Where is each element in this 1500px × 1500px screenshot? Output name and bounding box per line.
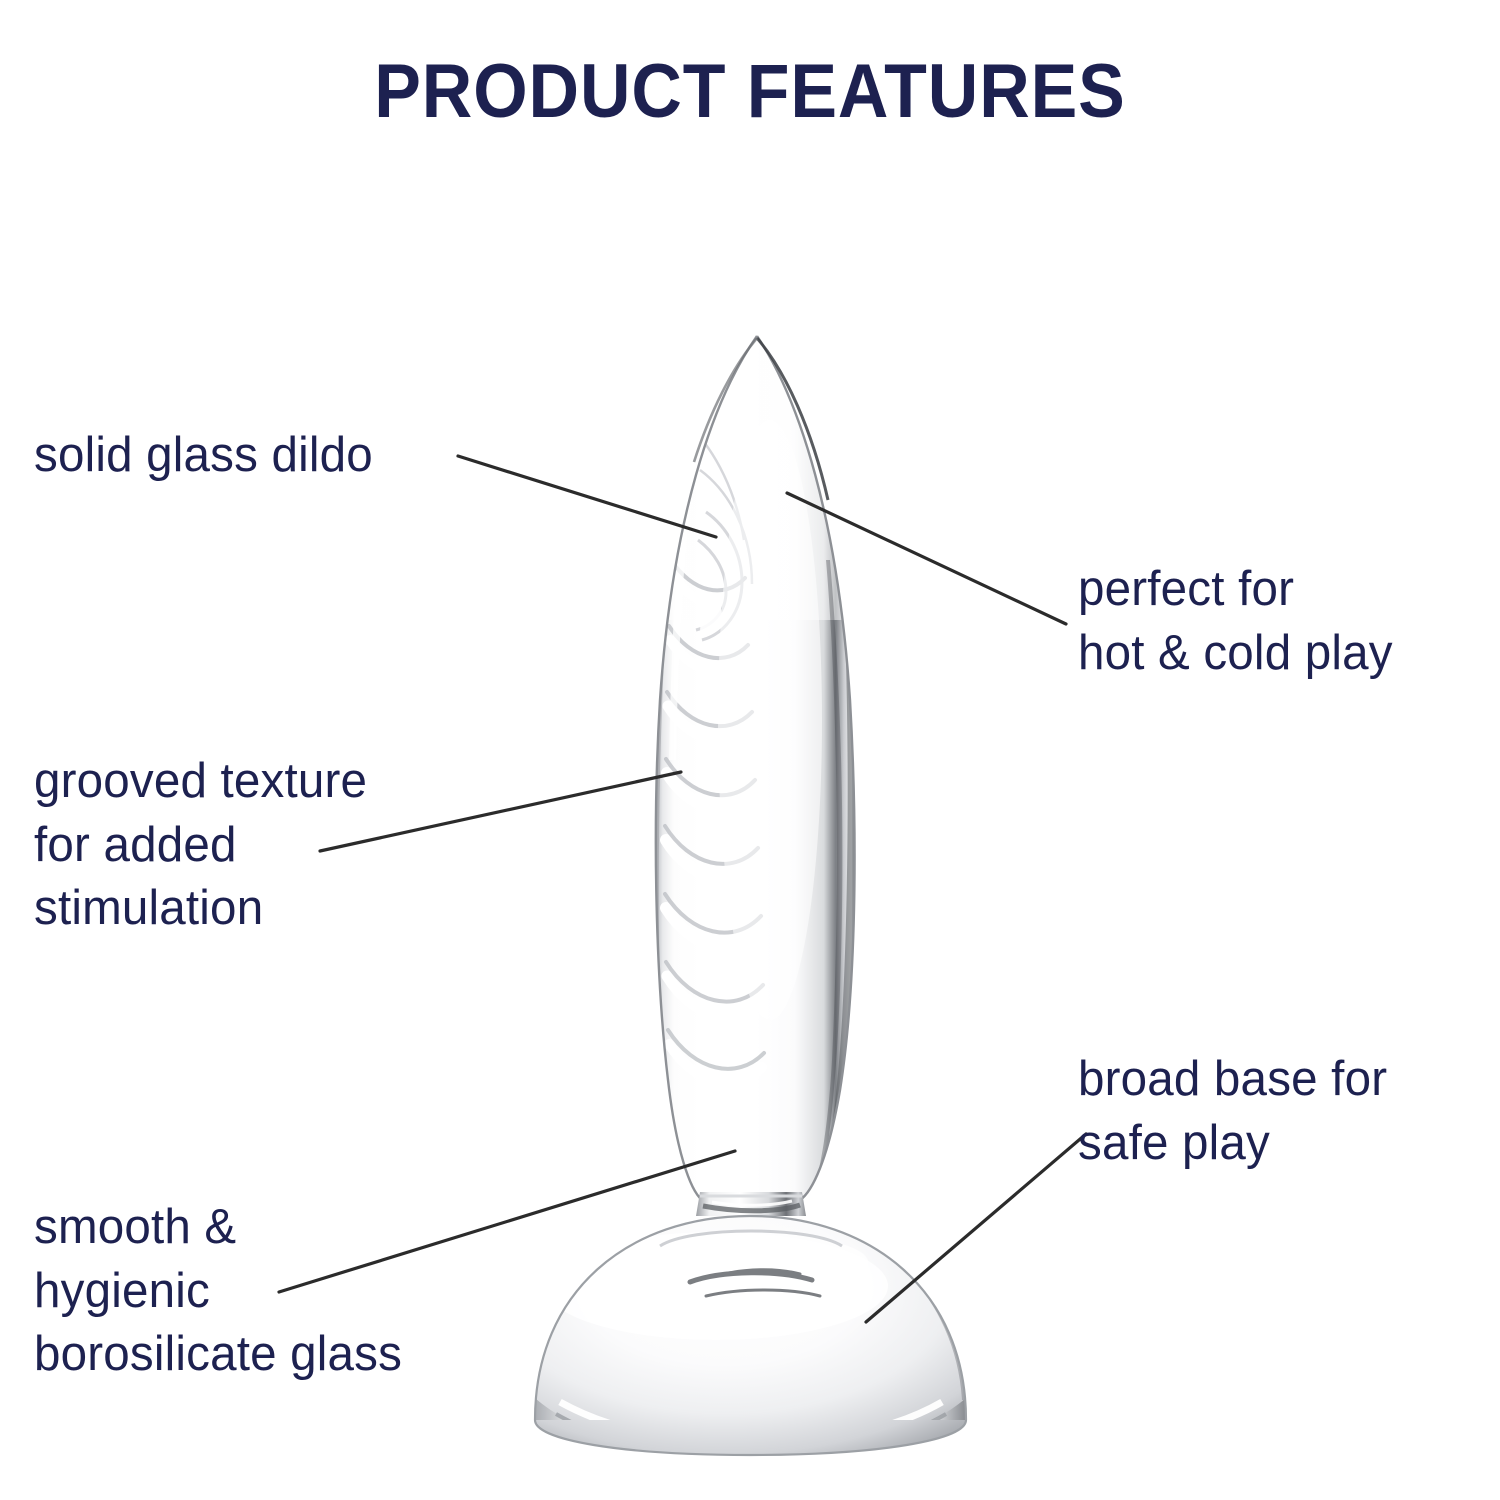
callout-label-smooth-hygienic: smooth & hygienic borosilicate glass <box>34 1196 402 1387</box>
product-features-infographic: PRODUCT FEATURES <box>0 0 1500 1500</box>
callout-label-grooved-texture: grooved texture for added stimulation <box>34 750 367 941</box>
callout-label-hot-cold-play: perfect for hot & cold play <box>1078 558 1393 685</box>
product-base-dome <box>535 1216 966 1462</box>
product-neck <box>696 1192 806 1216</box>
callout-label-solid-glass: solid glass dildo <box>34 424 373 488</box>
product-shaft-and-tip <box>600 320 920 1200</box>
callout-label-broad-base: broad base for safe play <box>1078 1048 1387 1175</box>
